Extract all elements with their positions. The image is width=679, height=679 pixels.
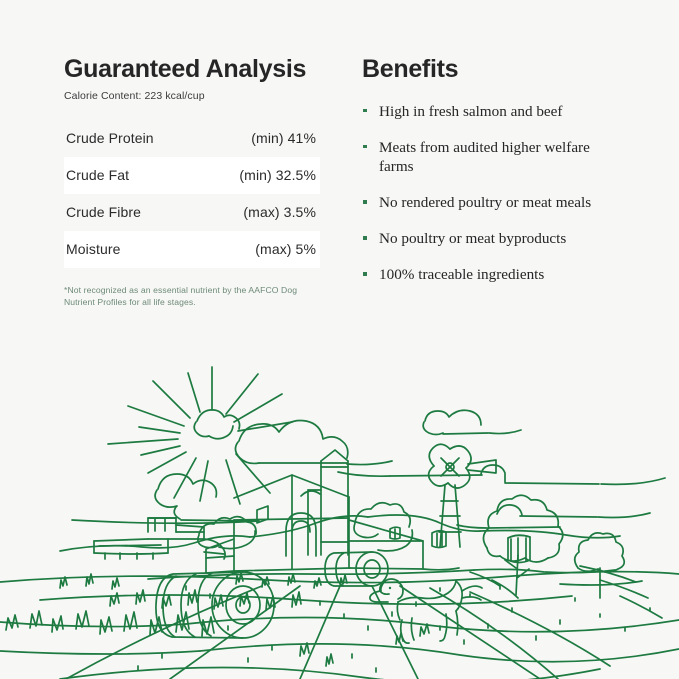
- grass-tufts: [6, 573, 650, 672]
- grain-silo: [301, 450, 348, 555]
- dog: [370, 579, 482, 643]
- benefit-text: No poultry or meat byproducts: [379, 230, 566, 247]
- barn: [206, 475, 459, 573]
- nutrient-name: Moisture: [66, 241, 120, 257]
- list-item: No rendered poultry or meat meals: [362, 193, 611, 212]
- bullet-icon: [363, 109, 367, 113]
- aafco-footnote: *Not recognized as an essential nutrient…: [64, 284, 300, 308]
- table-row: Moisture (max) 5%: [64, 231, 320, 268]
- nutrient-value: (max) 5%: [255, 241, 318, 257]
- list-item: High in fresh salmon and beef: [362, 102, 611, 121]
- info-columns: Guaranteed Analysis Calorie Content: 223…: [0, 0, 679, 340]
- right-field-texture: [470, 566, 662, 618]
- farm-line-art-illustration: [0, 336, 679, 679]
- list-item: No poultry or meat byproducts: [362, 229, 611, 248]
- nutrient-name: Crude Fibre: [66, 204, 141, 220]
- table-row: Crude Fibre (max) 3.5%: [64, 194, 320, 231]
- list-item: 100% traceable ingredients: [362, 265, 611, 284]
- benefit-text: 100% traceable ingredients: [379, 266, 544, 283]
- nutrient-value: (min) 41%: [251, 130, 318, 146]
- benefits-list: High in fresh salmon and beef Meats from…: [362, 102, 632, 285]
- benefits-title: Benefits: [362, 56, 632, 84]
- list-item: Meats from audited higher welfare farms: [362, 138, 611, 176]
- benefit-text: No rendered poultry or meat meals: [379, 194, 591, 211]
- guaranteed-analysis-title: Guaranteed Analysis: [64, 56, 320, 84]
- benefit-text: High in fresh salmon and beef: [379, 103, 562, 120]
- nutrient-value: (min) 32.5%: [239, 167, 318, 183]
- bullet-icon: [363, 272, 367, 276]
- product-info-panel: Guaranteed Analysis Calorie Content: 223…: [0, 0, 679, 679]
- bullet-icon: [363, 145, 367, 149]
- nutrition-table: Crude Protein (min) 41% Crude Fat (min) …: [64, 120, 320, 268]
- nutrient-name: Crude Fat: [66, 167, 129, 183]
- sun-with-rays: [108, 367, 292, 504]
- table-row: Crude Fat (min) 32.5%: [64, 157, 320, 194]
- farm-illustration-svg: [0, 336, 679, 679]
- plowed-field-rows: [0, 572, 679, 679]
- clouds: [72, 410, 665, 528]
- benefits-section: Benefits High in fresh salmon and beef M…: [362, 56, 632, 301]
- calorie-content-label: Calorie Content: 223 kcal/cup: [64, 90, 320, 102]
- nutrient-value: (max) 3.5%: [243, 204, 318, 220]
- nutrient-name: Crude Protein: [66, 130, 154, 146]
- guaranteed-analysis-section: Guaranteed Analysis Calorie Content: 223…: [64, 56, 320, 308]
- benefit-text: Meats from audited higher welfare farms: [379, 139, 590, 175]
- bullet-icon: [363, 200, 367, 204]
- bullet-icon: [363, 236, 367, 240]
- table-row: Crude Protein (min) 41%: [64, 120, 320, 157]
